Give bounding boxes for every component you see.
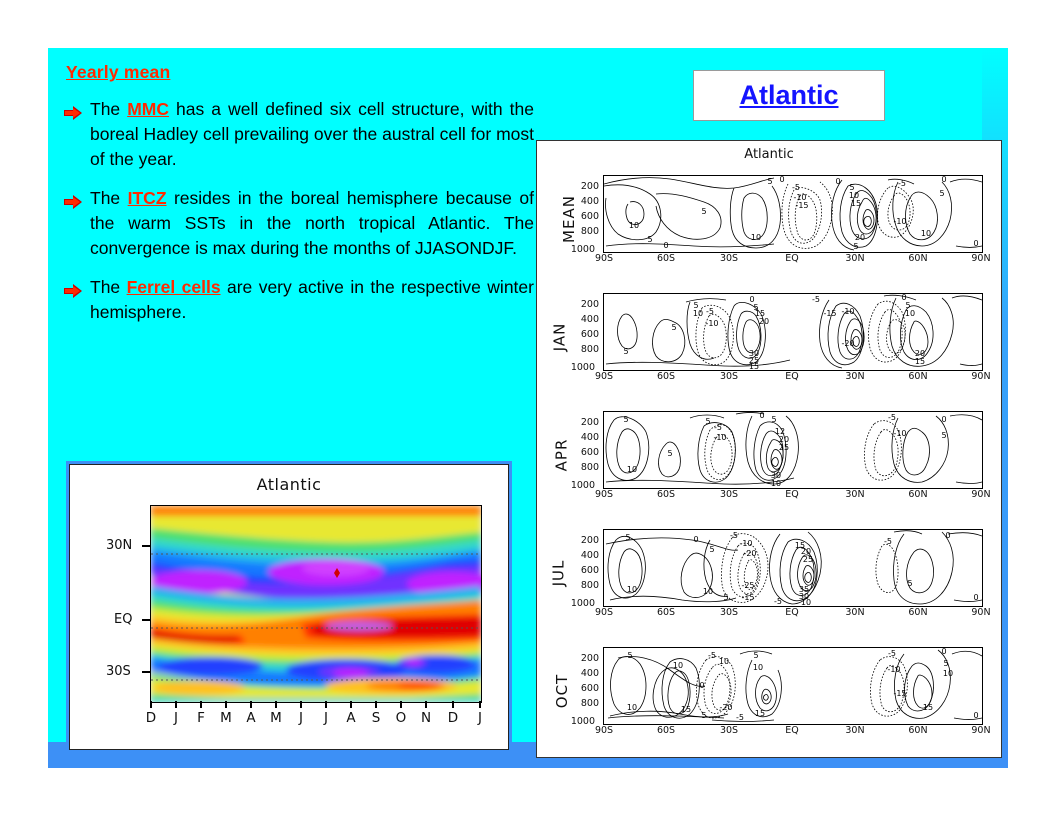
svg-text:5: 5 bbox=[623, 415, 628, 424]
svg-text:10: 10 bbox=[673, 661, 683, 670]
svg-text:-5: -5 bbox=[706, 307, 714, 316]
svg-text:10: 10 bbox=[751, 233, 761, 242]
svg-text:25: 25 bbox=[779, 443, 789, 452]
svg-text:5: 5 bbox=[625, 533, 630, 542]
svg-text:0: 0 bbox=[973, 239, 978, 248]
hovmoller-xtick-label: J bbox=[167, 710, 185, 726]
hovmoller-xtick-mark bbox=[425, 701, 427, 708]
svg-text:0: 0 bbox=[941, 415, 946, 424]
mmc-ytick-label: 600 bbox=[573, 565, 599, 576]
mmc-xtick-label: EQ bbox=[779, 607, 805, 618]
svg-text:0: 0 bbox=[973, 593, 978, 602]
bullet-text-pre: The bbox=[90, 99, 127, 119]
svg-text:0: 0 bbox=[945, 531, 950, 540]
svg-text:5: 5 bbox=[701, 711, 706, 720]
hovmoller-xtick-label: A bbox=[242, 710, 260, 726]
hovmoller-ytick-mark bbox=[142, 619, 150, 621]
mmc-xtick-label: 90N bbox=[968, 253, 994, 264]
svg-text:-10: -10 bbox=[841, 307, 854, 316]
svg-text:10: 10 bbox=[943, 669, 953, 678]
hovmoller-xtick-mark bbox=[350, 701, 352, 708]
hovmoller-xtick-mark bbox=[275, 701, 277, 708]
svg-text:5: 5 bbox=[853, 242, 858, 251]
svg-text:0: 0 bbox=[699, 681, 704, 690]
svg-text:-5: -5 bbox=[812, 295, 820, 304]
hovmoller-xtick-mark bbox=[250, 701, 252, 708]
svg-text:15: 15 bbox=[755, 709, 765, 718]
mmc-ytick-label: 200 bbox=[573, 181, 599, 192]
svg-text:10: 10 bbox=[693, 309, 703, 318]
mmc-panel-row-label: JAN bbox=[550, 323, 568, 352]
mmc-xtick-label: 60S bbox=[653, 253, 679, 264]
mmc-ytick-label: 400 bbox=[573, 432, 599, 443]
mmc-xtick-label: 30S bbox=[716, 253, 742, 264]
mmc-ytick-label: 600 bbox=[573, 447, 599, 458]
bullet-keyword: MMC bbox=[127, 99, 169, 119]
hovmoller-xtick-mark bbox=[225, 701, 227, 708]
hovmoller-xtick-label: J bbox=[292, 710, 310, 726]
mmc-ytick-label: 600 bbox=[573, 683, 599, 694]
svg-text:5: 5 bbox=[705, 417, 710, 426]
hovmoller-plot-area bbox=[150, 505, 482, 703]
red-arrow-bullet-icon bbox=[64, 280, 82, 294]
svg-text:10: 10 bbox=[905, 309, 915, 318]
mmc-xtick-label: 60N bbox=[905, 371, 931, 382]
mmc-panel-jul: JUL 200 400 600 800 1000 bbox=[537, 517, 1003, 629]
svg-text:10: 10 bbox=[703, 587, 713, 596]
svg-text:15: 15 bbox=[681, 705, 691, 714]
svg-text:0: 0 bbox=[759, 412, 764, 420]
mmc-ytick-label: 800 bbox=[573, 226, 599, 237]
svg-text:15: 15 bbox=[749, 362, 759, 370]
mmc-xtick-label: EQ bbox=[779, 253, 805, 264]
svg-text:0: 0 bbox=[693, 535, 698, 544]
svg-text:10: 10 bbox=[921, 229, 931, 238]
hovmoller-xtick-mark bbox=[375, 701, 377, 708]
mmc-xtick-label: 90S bbox=[591, 725, 617, 736]
svg-text:-5: -5 bbox=[888, 413, 896, 422]
bullet-keyword: ITCZ bbox=[128, 188, 167, 208]
mmc-xtick-label: 30S bbox=[716, 725, 742, 736]
hovmoller-ytick-30s: 30S bbox=[106, 664, 131, 679]
svg-text:10: 10 bbox=[627, 703, 637, 712]
hovmoller-xtick-label: A bbox=[342, 710, 360, 726]
mmc-ytick-label: 200 bbox=[573, 653, 599, 664]
svg-text:-10: -10 bbox=[739, 539, 752, 548]
svg-text:5: 5 bbox=[771, 415, 776, 424]
hovmoller-xtick-mark bbox=[325, 701, 327, 708]
hovmoller-ytick-mark bbox=[142, 545, 150, 547]
mmc-xtick-label: 90N bbox=[968, 489, 994, 500]
mmc-ytick-label: 800 bbox=[573, 580, 599, 591]
mmc-ytick-label: 200 bbox=[573, 299, 599, 310]
mmc-xtick-label: EQ bbox=[779, 489, 805, 500]
svg-text:5: 5 bbox=[627, 651, 632, 660]
mmc-xtick-label: 30S bbox=[716, 489, 742, 500]
mmc-ytick-label: 400 bbox=[573, 314, 599, 325]
mmc-xtick-label: 90S bbox=[591, 371, 617, 382]
mmc-contours: 10 5 5 5 10 0 0 -5 -10 -15 0 5 10 15 bbox=[604, 176, 982, 252]
svg-text:-20: -20 bbox=[841, 339, 854, 348]
mmc-panel-figure: Atlantic MEAN 200 400 600 800 1000 bbox=[536, 140, 1002, 758]
svg-text:-5: -5 bbox=[792, 183, 800, 192]
mmc-panel-oct: OCT 200 400 600 800 1000 bbox=[537, 635, 1003, 747]
svg-text:-25: -25 bbox=[741, 581, 754, 590]
mmc-ytick-label: 200 bbox=[573, 535, 599, 546]
mmc-xtick-label: 90N bbox=[968, 607, 994, 618]
hovmoller-xtick-label: N bbox=[417, 710, 435, 726]
svg-text:-15: -15 bbox=[741, 593, 754, 602]
svg-text:15: 15 bbox=[915, 357, 925, 366]
svg-text:0: 0 bbox=[663, 241, 668, 250]
svg-text:-10: -10 bbox=[893, 429, 906, 438]
mmc-xtick-label: 90N bbox=[968, 371, 994, 382]
svg-text:-5: -5 bbox=[714, 423, 722, 432]
svg-text:0: 0 bbox=[779, 176, 784, 184]
svg-text:-5: -5 bbox=[730, 531, 738, 540]
mmc-xtick-label: 90S bbox=[591, 253, 617, 264]
svg-text:-10: -10 bbox=[887, 665, 900, 674]
svg-text:5: 5 bbox=[943, 659, 948, 668]
mmc-contours: 5 5 5 10 -5 -10 0 5 15 20 30 25 15 -5 bbox=[604, 294, 982, 370]
atlantic-title-label: Atlantic bbox=[739, 80, 838, 111]
svg-text:-5: -5 bbox=[774, 597, 782, 606]
mmc-xtick-label: 60N bbox=[905, 489, 931, 500]
hovmoller-xtick-mark bbox=[200, 701, 202, 708]
hovmoller-figure: Atlantic bbox=[66, 461, 512, 753]
svg-text:-5: -5 bbox=[898, 179, 906, 188]
svg-text:10: 10 bbox=[753, 663, 763, 672]
mmc-panel-row-label: JUL bbox=[549, 560, 567, 587]
hovmoller-xtick-label: J bbox=[317, 710, 335, 726]
svg-text:10: 10 bbox=[801, 598, 811, 606]
hovmoller-ytick-eq: EQ bbox=[114, 612, 132, 627]
mmc-xtick-label: 60S bbox=[653, 725, 679, 736]
svg-text:20: 20 bbox=[759, 317, 769, 326]
text-column: Yearly mean The MMC has a well defined s… bbox=[64, 62, 534, 339]
hovmoller-ytick-mark bbox=[142, 671, 150, 673]
mmc-xtick-label: 30N bbox=[842, 607, 868, 618]
mmc-ytick-label: 800 bbox=[573, 344, 599, 355]
hovmoller-xtick-label: M bbox=[267, 710, 285, 726]
svg-text:20: 20 bbox=[855, 233, 865, 242]
svg-text:10: 10 bbox=[627, 585, 637, 594]
svg-text:5: 5 bbox=[723, 593, 728, 602]
mmc-xtick-label: 90N bbox=[968, 725, 994, 736]
svg-text:5: 5 bbox=[701, 207, 706, 216]
list-item: The ITCZ resides in the boreal hemispher… bbox=[64, 186, 534, 261]
hovmoller-xtick-label: S bbox=[367, 710, 385, 726]
svg-text:10: 10 bbox=[627, 465, 637, 474]
hovmoller-xtick-label: M bbox=[217, 710, 235, 726]
mmc-xtick-label: 60N bbox=[905, 725, 931, 736]
hovmoller-ytick-30n: 30N bbox=[106, 538, 132, 553]
svg-text:5: 5 bbox=[907, 579, 912, 588]
svg-text:5: 5 bbox=[671, 323, 676, 332]
mmc-contours: 5 10 0 5 10 5 -5 -10 -20 -25 -15 -5 15 2… bbox=[604, 530, 982, 606]
svg-text:-5: -5 bbox=[888, 649, 896, 658]
svg-text:10: 10 bbox=[771, 479, 781, 488]
mmc-plot-area: 5 5 5 10 -5 -10 0 5 15 20 30 25 15 -5 bbox=[603, 293, 983, 371]
svg-text:5: 5 bbox=[709, 545, 714, 554]
svg-text:15: 15 bbox=[851, 199, 861, 208]
svg-text:5: 5 bbox=[647, 235, 652, 244]
svg-text:5: 5 bbox=[753, 651, 758, 660]
mmc-plot-area: 5 10 0 5 10 15 -5 10 -20 -5 5 10 15 -5 bbox=[603, 647, 983, 725]
svg-text:-15: -15 bbox=[823, 309, 836, 318]
hovmoller-contour-fill bbox=[151, 506, 481, 702]
mmc-xtick-label: 60S bbox=[653, 489, 679, 500]
svg-text:0: 0 bbox=[973, 711, 978, 720]
hovmoller-xtick-mark bbox=[400, 701, 402, 708]
mmc-xtick-label: 60S bbox=[653, 371, 679, 382]
bullet-text-pre: The bbox=[90, 277, 127, 297]
svg-text:-10: -10 bbox=[893, 217, 906, 226]
presentation-slide: Yearly mean The MMC has a well defined s… bbox=[48, 48, 1008, 768]
hovmoller-xtick-mark bbox=[175, 701, 177, 708]
hovmoller-xtick-mark bbox=[150, 701, 152, 708]
svg-text:10: 10 bbox=[719, 657, 729, 666]
bullet-keyword: Ferrel cells bbox=[127, 277, 221, 297]
hovmoller-xtick-mark bbox=[452, 701, 454, 708]
red-arrow-bullet-icon bbox=[64, 102, 82, 116]
mmc-xtick-label: 60N bbox=[905, 253, 931, 264]
svg-text:5: 5 bbox=[667, 449, 672, 458]
mmc-ytick-label: 600 bbox=[573, 329, 599, 340]
hovmoller-xtick-label: J bbox=[471, 710, 489, 726]
hovmoller-xtick-label: O bbox=[392, 710, 410, 726]
svg-text:0: 0 bbox=[835, 177, 840, 186]
svg-text:-5: -5 bbox=[884, 537, 892, 546]
hovmoller-xtick-label: F bbox=[192, 710, 210, 726]
svg-text:0: 0 bbox=[941, 176, 946, 184]
page-title: Yearly mean bbox=[66, 62, 534, 83]
mmc-xtick-label: 90S bbox=[591, 489, 617, 500]
list-item: The Ferrel cells are very active in the … bbox=[64, 275, 534, 325]
bullet-text-pre: The bbox=[90, 188, 128, 208]
mmc-ytick-label: 200 bbox=[573, 417, 599, 428]
svg-text:5: 5 bbox=[623, 347, 628, 356]
mmc-panel-row-label: OCT bbox=[553, 674, 571, 708]
mmc-xtick-label: 30S bbox=[716, 371, 742, 382]
mmc-xtick-label: 30N bbox=[842, 371, 868, 382]
svg-text:-15: -15 bbox=[893, 689, 906, 698]
mmc-ytick-label: 400 bbox=[573, 550, 599, 561]
svg-text:-10: -10 bbox=[713, 433, 726, 442]
mmc-ytick-label: 400 bbox=[573, 668, 599, 679]
mmc-xtick-label: EQ bbox=[779, 371, 805, 382]
svg-text:0: 0 bbox=[941, 648, 946, 656]
red-arrow-bullet-icon bbox=[64, 191, 82, 205]
mmc-xtick-label: EQ bbox=[779, 725, 805, 736]
mmc-xtick-label: 30N bbox=[842, 725, 868, 736]
hovmoller-xtick-mark bbox=[479, 701, 481, 708]
slide-canvas: Yearly mean The MMC has a well defined s… bbox=[0, 0, 1056, 816]
hovmoller-title: Atlantic bbox=[70, 475, 508, 494]
hovmoller-xtick-mark bbox=[300, 701, 302, 708]
mmc-xtick-label: 60S bbox=[653, 607, 679, 618]
svg-text:5: 5 bbox=[941, 431, 946, 440]
svg-text:5: 5 bbox=[767, 177, 772, 186]
svg-text:-15: -15 bbox=[795, 201, 808, 210]
svg-text:-20: -20 bbox=[719, 703, 732, 712]
svg-text:10: 10 bbox=[629, 221, 639, 230]
mmc-panel-title: Atlantic bbox=[537, 147, 1001, 162]
svg-text:-20: -20 bbox=[743, 549, 756, 558]
svg-text:-10: -10 bbox=[705, 319, 718, 328]
svg-text:15: 15 bbox=[923, 703, 933, 712]
mmc-contours: 5 10 0 5 10 15 -5 10 -20 -5 5 10 15 -5 bbox=[604, 648, 982, 724]
mmc-panel-mean: MEAN 200 400 600 800 1000 bbox=[537, 163, 1003, 275]
mmc-xtick-label: 60N bbox=[905, 607, 931, 618]
mmc-xtick-label: 30N bbox=[842, 253, 868, 264]
mmc-xtick-label: 90S bbox=[591, 607, 617, 618]
svg-text:-5: -5 bbox=[708, 651, 716, 660]
mmc-contours: 5 10 5 5 -5 -10 0 5 12 20 25 30 10 -5 bbox=[604, 412, 982, 488]
mmc-xtick-label: 30S bbox=[716, 607, 742, 618]
atlantic-title-box: Atlantic bbox=[693, 70, 885, 121]
hovmoller-figure-inner: Atlantic bbox=[69, 464, 509, 750]
mmc-plot-area: 5 10 0 5 10 5 -5 -10 -20 -25 -15 -5 15 2… bbox=[603, 529, 983, 607]
mmc-plot-area: 5 10 5 5 -5 -10 0 5 12 20 25 30 10 -5 bbox=[603, 411, 983, 489]
mmc-plot-area: 10 5 5 5 10 0 0 -5 -10 -15 0 5 10 15 bbox=[603, 175, 983, 253]
hovmoller-xtick-label: D bbox=[142, 710, 160, 726]
mmc-panel-jan: JAN 200 400 600 800 1000 bbox=[537, 281, 1003, 393]
svg-text:25: 25 bbox=[803, 555, 813, 564]
mmc-xtick-label: 30N bbox=[842, 489, 868, 500]
mmc-ytick-label: 800 bbox=[573, 462, 599, 473]
list-item: The MMC has a well defined six cell stru… bbox=[64, 97, 534, 172]
mmc-panel-row-label: APR bbox=[552, 439, 570, 472]
mmc-ytick-label: 800 bbox=[573, 698, 599, 709]
hovmoller-xtick-label: D bbox=[444, 710, 462, 726]
mmc-ytick-label: 400 bbox=[573, 196, 599, 207]
svg-text:5: 5 bbox=[939, 189, 944, 198]
mmc-panel-apr: APR 200 400 600 800 1000 bbox=[537, 399, 1003, 511]
mmc-ytick-label: 600 bbox=[573, 211, 599, 222]
svg-text:-5: -5 bbox=[736, 713, 744, 722]
